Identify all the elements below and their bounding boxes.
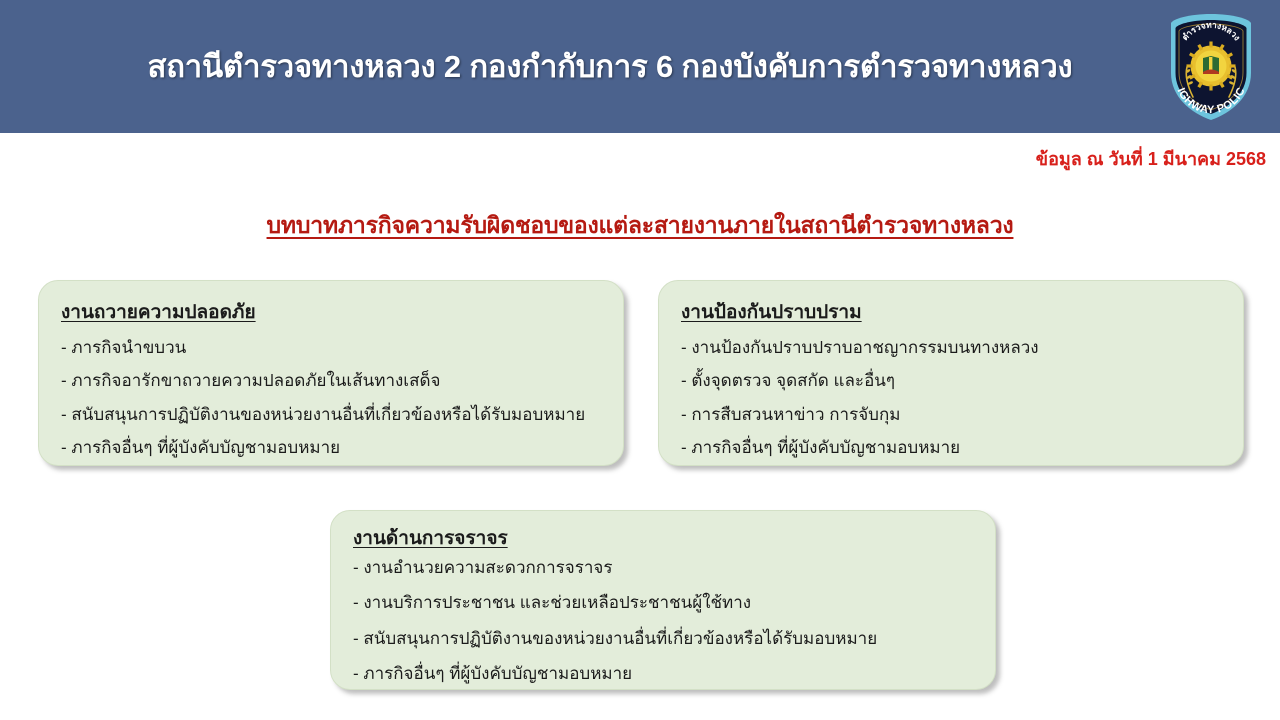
list-item: - สนับสนุนการปฏิบัติงานของหน่วยงานอื่นที… (61, 404, 601, 425)
page-title: สถานีตำรวจทางหลวง 2 กองกำกับการ 6 กองบัง… (80, 0, 1140, 133)
list-item: - ภารกิจอารักขาถวายความปลอดภัยในเส้นทางเ… (61, 370, 601, 391)
list-item: - งานป้องกันปราบปราบอาชญากรรมบนทางหลวง (681, 337, 1221, 358)
card-royal-safety-duties: งานถวายความปลอดภัย - ภารกิจนำขบวน - ภารก… (38, 280, 624, 466)
list-item: - ตั้งจุดตรวจ จุดสกัด และอื่นๆ (681, 370, 1221, 391)
header-band: สถานีตำรวจทางหลวง 2 กองกำกับการ 6 กองบัง… (0, 0, 1280, 133)
duty-list-royal-safety: - ภารกิจนำขบวน - ภารกิจอารักขาถวายความปล… (61, 337, 601, 458)
card-title-royal-safety-duties: งานถวายความปลอดภัย (61, 297, 601, 327)
highway-police-shield-badge-icon: ตำรวจทางหลวง HIGHWAY POLICE (1163, 11, 1259, 123)
list-item: - ภารกิจอื่นๆ ที่ผู้บังคับบัญชามอบหมาย (681, 437, 1221, 458)
list-item: - งานอำนวยความสะดวกการจราจร (353, 557, 973, 578)
list-item: - ภารกิจนำขบวน (61, 337, 601, 358)
slide-root: สถานีตำรวจทางหลวง 2 กองกำกับการ 6 กองบัง… (0, 0, 1280, 720)
card-crime-prevention-duties: งานป้องกันปราบปราม - งานป้องกันปราบปราบอ… (658, 280, 1244, 466)
data-as-of-date: ข้อมูล ณ วันที่ 1 มีนาคม 2568 (1036, 144, 1266, 173)
card-title-crime-prevention: งานป้องกันปราบปราม (681, 297, 1221, 327)
list-item: - สนับสนุนการปฏิบัติงานของหน่วยงานอื่นที… (353, 628, 973, 649)
list-item: - งานบริการประชาชน และช่วยเหลือประชาชนผู… (353, 592, 973, 613)
card-traffic-duties: งานด้านการจราจร - งานอำนวยความสะดวกการจร… (330, 510, 996, 690)
list-item: - การสืบสวนหาข่าว การจับกุม (681, 404, 1221, 425)
card-title-traffic: งานด้านการจราจร (353, 523, 973, 553)
main-heading: บทบาทภารกิจความรับผิดชอบของแต่ละสายงานภา… (0, 208, 1280, 244)
list-item: - ภารกิจอื่นๆ ที่ผู้บังคับบัญชามอบหมาย (61, 437, 601, 458)
list-item: - ภารกิจอื่นๆ ที่ผู้บังคับบัญชามอบหมาย (353, 663, 973, 684)
duty-list-traffic: - งานอำนวยความสะดวกการจราจร - งานบริการป… (353, 557, 973, 684)
duty-list-crime-prevention: - งานป้องกันปราบปราบอาชญากรรมบนทางหลวง -… (681, 337, 1221, 458)
